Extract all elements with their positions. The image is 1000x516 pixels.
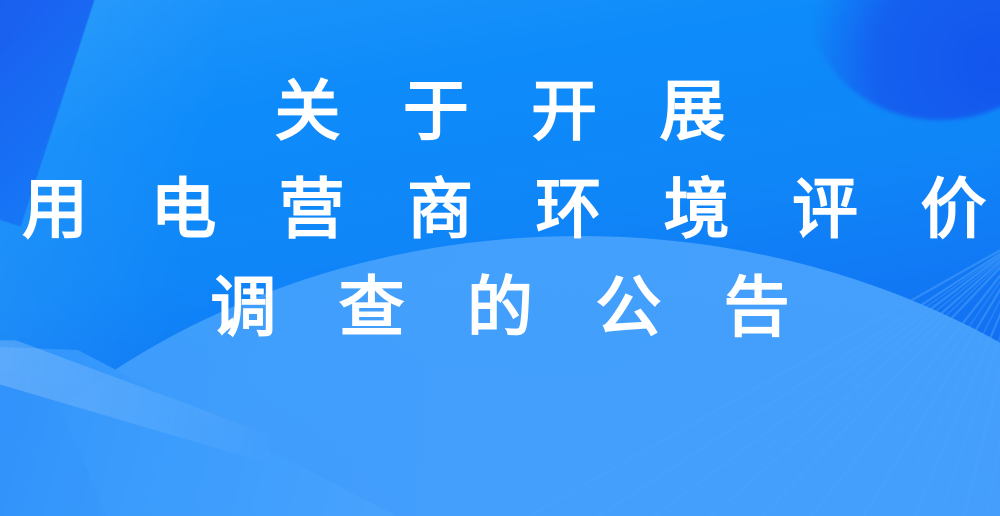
headline-line-1: 关 于 开 展 bbox=[0, 78, 1000, 144]
bottom-left-light-swoosh bbox=[0, 346, 400, 516]
banner-headline: 关 于 开 展 用 电 营 商 环 境 评 价 问 卷 调 查 的 公 告 bbox=[0, 78, 1000, 340]
bottom-left-dark-shape bbox=[0, 356, 210, 516]
headline-line-3: 调 查 的 公 告 bbox=[0, 274, 1000, 340]
bottom-left-swoosh-highlight bbox=[0, 340, 410, 500]
announcement-banner: 关 于 开 展 用 电 营 商 环 境 评 价 问 卷 调 查 的 公 告 bbox=[0, 0, 1000, 516]
headline-line-2: 用 电 营 商 环 境 评 价 问 卷 bbox=[0, 176, 1000, 242]
